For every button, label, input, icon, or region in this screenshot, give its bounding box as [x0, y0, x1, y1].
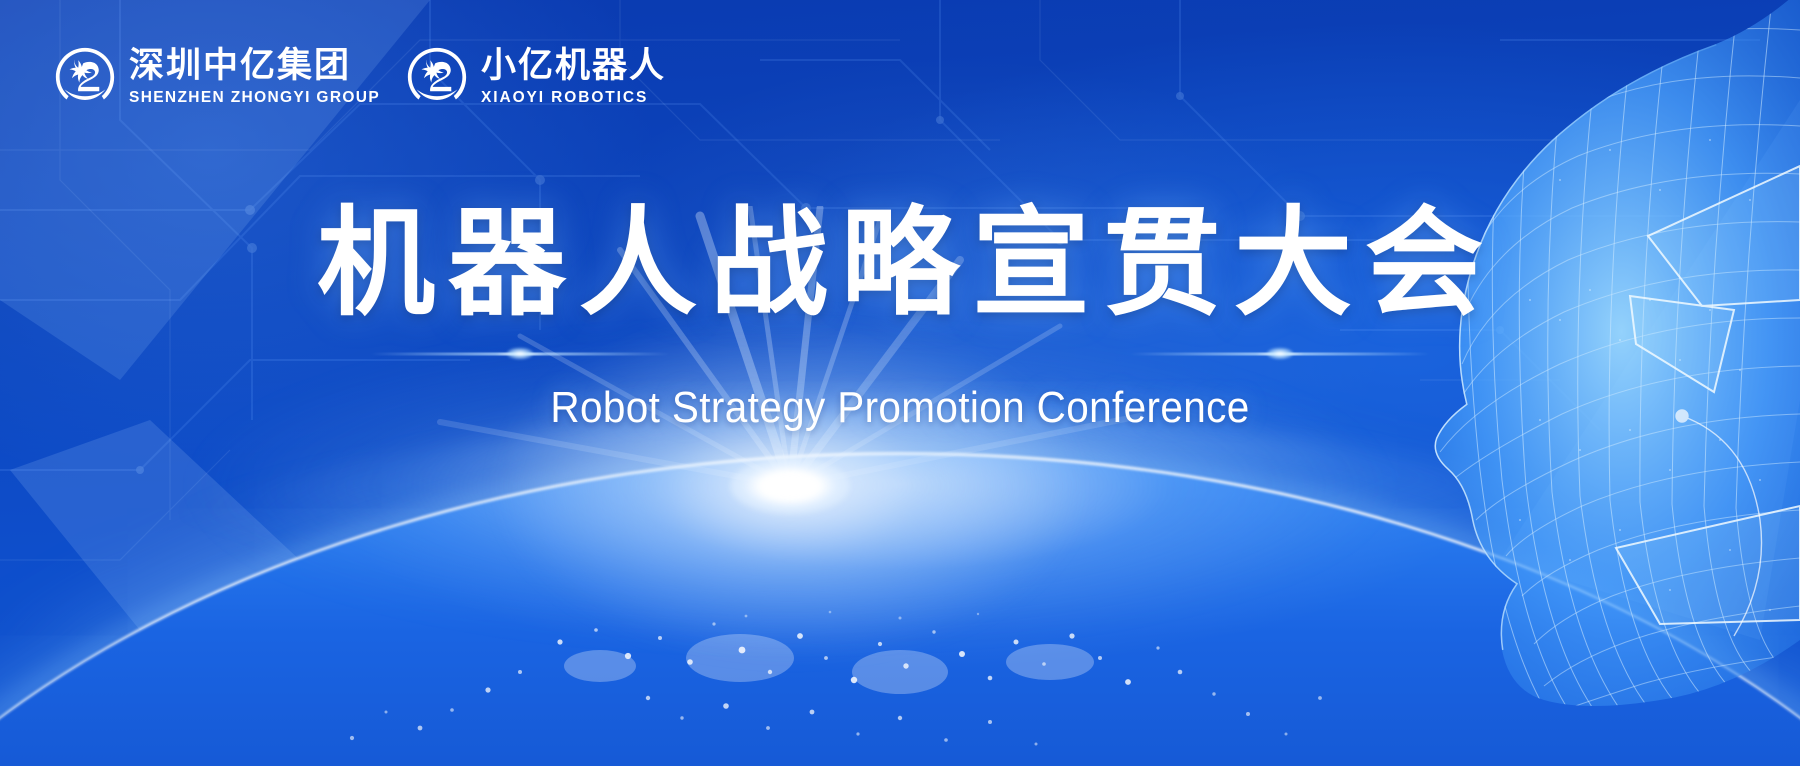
flare-divider-row [0, 341, 1800, 367]
logo-name-cn-xiaoyi: 小亿机器人 [481, 48, 666, 84]
page-subtitle: Robot Strategy Promotion Conference [72, 383, 1728, 433]
title-block: 机器人战略宣贯大会 Robot Strategy Promotion Confe… [0, 196, 1800, 433]
lens-flare-streak-left-icon [370, 352, 670, 355]
logo-name-cn-zhongyi: 深圳中亿集团 [129, 48, 380, 84]
conference-banner: 深圳中亿集团 SHENZHEN ZHONGYI GROUP 小亿机器人 XIAO… [0, 0, 1800, 766]
logo-name-en-xiaoyi: XIAOYI ROBOTICS [481, 89, 666, 106]
lens-flare-streak-right-icon [1130, 352, 1430, 355]
logo-lockup-xiaoyi: 小亿机器人 XIAOYI ROBOTICS [406, 46, 666, 108]
logo-name-en-zhongyi: SHENZHEN ZHONGYI GROUP [129, 89, 380, 106]
page-title: 机器人战略宣贯大会 [0, 196, 1800, 333]
zhongyi-circular-emblem-icon [54, 46, 116, 108]
logo-lockup-zhongyi: 深圳中亿集团 SHENZHEN ZHONGYI GROUP [54, 46, 380, 108]
xiaoyi-circular-emblem-icon [406, 46, 468, 108]
logo-bar: 深圳中亿集团 SHENZHEN ZHONGYI GROUP 小亿机器人 XIAO… [54, 46, 666, 108]
